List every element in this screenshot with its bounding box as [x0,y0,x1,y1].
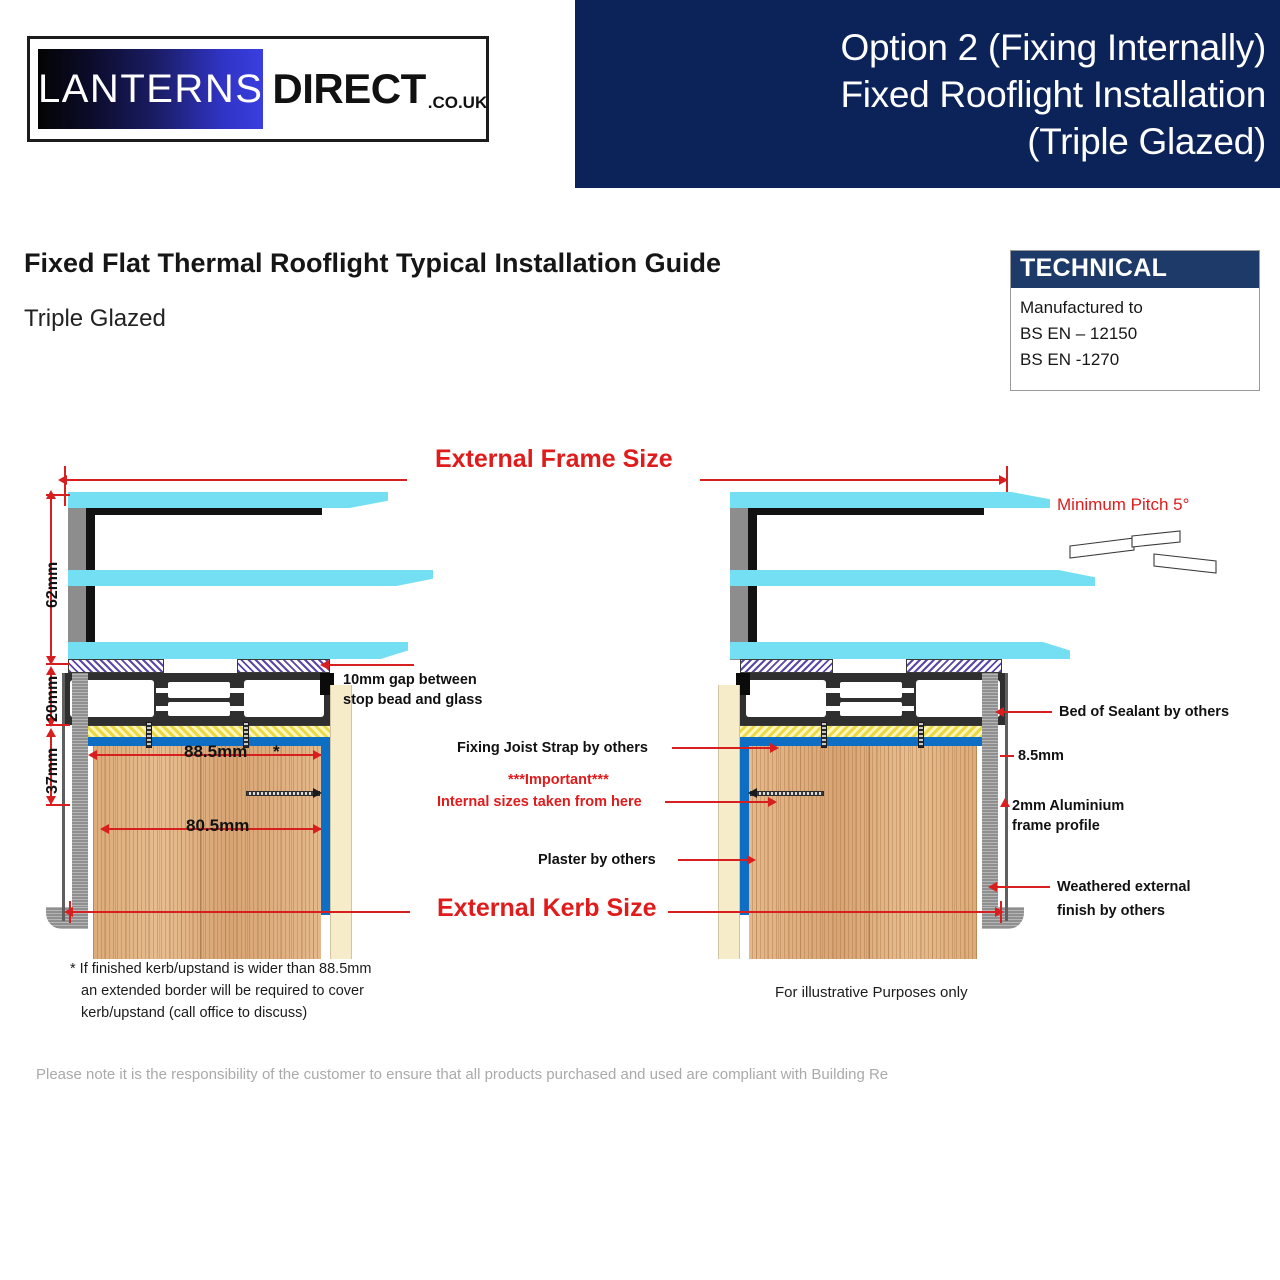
vdim-frame-tick-bottom [46,724,70,726]
vdim-glass-label: 62mm [44,562,62,608]
technical-box: TECHNICAL Manufactured to BS EN – 12150 … [1010,250,1260,391]
page-title: Fixed Flat Thermal Rooflight Typical Ins… [24,248,721,279]
stop-bead-left-inner [237,659,330,673]
glass-pane-middle-right [730,570,1095,586]
vdim-frame-arrow-top [46,666,56,675]
frame-chamber-mid-upper-left [168,682,230,698]
thermal-break-upper-right [901,688,914,693]
callout-8-5-tick [1000,755,1014,757]
timber-kerb-joint-left [200,746,201,959]
weathered-external-finish-left [72,673,88,921]
footnote-line-2: an extended border will be required to c… [70,980,371,1002]
minimum-pitch-icon [1062,528,1222,576]
callout-plaster: Plaster by others [538,850,656,870]
dim-80-label: 80.5mm [186,816,249,836]
dim-kerb-tick-right [1000,901,1002,923]
callout-plaster-arrow [747,855,756,865]
stop-bead-right-inner [740,659,833,673]
vdim-kerb-tick-bottom [46,804,70,806]
glazing-spacer-top-right [748,508,984,515]
kerb-width-footnote: * If finished kerb/upstand is wider than… [70,958,371,1024]
vdim-glass-tick-bottom [46,663,70,665]
logo-word-direct: DIRECT [272,65,425,113]
dim-external-kerb-size-label: External Kerb Size [437,894,657,923]
thermal-break-lower-inner-left [229,706,245,711]
thermal-break-lower-left [156,706,169,711]
dim-88-asterisk: * [273,742,280,762]
callout-weathered-line-1: Weathered external [1057,877,1191,897]
glass-pane-inner-left [68,642,408,659]
dim-88-label: 88.5mm [184,742,247,762]
thermal-break-upper-inner-left [229,688,245,693]
plaster-board-right [718,685,740,959]
technical-body: Manufactured to BS EN – 12150 BS EN -127… [1011,288,1259,373]
fixing-joist-strap-right [750,791,824,796]
dim-88-arrow-right [313,750,322,760]
callout-gap-arrow [320,660,329,670]
footnote-line-3: kerb/upstand (call office to discuss) [70,1002,371,1024]
stop-bead-left-outer [68,659,164,673]
callout-plaster-leader [678,859,750,861]
vdim-kerb-arrow-top [46,728,56,737]
thermal-break-lower-inner-right [825,706,841,711]
dim-kerb-line-left [70,911,410,913]
frame-chamber-inner-right [746,680,826,717]
callout-alu-profile-line-2: frame profile [1012,816,1100,836]
callout-stop-bead-gap-line-2: stop bead and glass [343,690,482,710]
callout-thickness-8-5: 8.5mm [1018,746,1064,766]
glazing-spacer-top-left [86,508,322,515]
glass-pane-outer-left [68,492,388,508]
fixing-screw-right-2 [821,722,827,748]
dim-80-arrow-right [313,824,322,834]
header-title-line-3: (Triple Glazed) [1027,118,1266,165]
callout-weathered-arrow [988,882,997,892]
frame-chamber-inner-left [244,680,324,717]
callout-gap-leader [326,664,414,666]
callout-alu-profile-line-1: 2mm Aluminium [1012,796,1124,816]
callout-weathered-line-2: finish by others [1057,901,1165,921]
stop-bead-right-outer [906,659,1002,673]
dim-kerb-line-right [668,911,998,913]
dpc-membrane-vertical-left [321,737,330,915]
glass-pane-outer-right [730,492,1050,508]
technical-line-3: BS EN -1270 [1020,347,1250,373]
installation-cross-section-diagram: External Frame Size [0,430,1280,1010]
timber-kerb-joint-right [869,746,870,959]
timber-kerb-right [749,746,977,959]
callout-joist-strap-leader [672,747,772,749]
thermal-break-upper-inner-right [825,688,841,693]
dim-external-frame-size-label: External Frame Size [435,445,673,474]
glass-pane-inner-right [730,642,1070,659]
technical-header: TECHNICAL [1011,251,1259,288]
minimum-pitch-label: Minimum Pitch 5° [1057,495,1189,515]
vdim-frame-label: 20mm [44,676,62,722]
callout-stop-bead-gap-line-1: 10mm gap between [343,670,477,690]
header-title-line-2: Fixed Rooflight Installation [840,71,1266,118]
callout-internal-sizes: Internal sizes taken from here [437,792,642,812]
dim-88-arrow-left [88,750,97,760]
callout-sealant-arrow [995,707,1004,717]
vdim-kerb-label: 37mm [44,748,62,794]
joist-strap-arrow-right [748,788,757,798]
frame-chamber-mid-lower-right [840,702,902,716]
thermal-break-lower-right [901,706,914,711]
callout-weathered-leader [994,886,1050,888]
callout-internal-sizes-leader [665,801,770,803]
technical-line-1: Manufactured to [1020,295,1250,321]
callout-sealant-leader [1000,711,1052,713]
fixing-screw-left-1 [146,722,152,748]
fixing-screw-right-1 [918,722,924,748]
thermal-break-upper-left [156,688,169,693]
header-banner: Option 2 (Fixing Internally) Fixed Roofl… [575,0,1280,188]
dim-kerb-tick-left [69,901,71,923]
glass-pane-middle-left [68,570,433,586]
technical-line-2: BS EN – 12150 [1020,321,1250,347]
render-edge-line-left [62,673,65,921]
fixing-joist-strap-left [246,791,320,796]
logo-tld: .CO.UK [428,93,488,113]
footnote-line-1: * If finished kerb/upstand is wider than… [70,958,371,980]
frame-chamber-mid-lower-left [168,702,230,716]
page-subtitle: Triple Glazed [24,305,166,333]
building-regs-disclaimer: Please note it is the responsibility of … [36,1066,888,1083]
callout-joist-strap-arrow [770,743,779,753]
header-title-line-1: Option 2 (Fixing Internally) [840,24,1266,71]
plaster-board-left [330,685,352,959]
brand-logo: LANTERNS DIRECT .CO.UK [27,36,489,142]
right-assembly [650,430,1070,970]
dpc-membrane-vertical-right [740,737,749,915]
timber-kerb-left [93,746,321,959]
vdim-glass-tick-top [46,494,70,496]
logo-word-lanterns: LANTERNS [38,67,263,112]
illustrative-purposes-note: For illustrative Purposes only [775,984,968,1001]
callout-alu-profile-arrow [1000,798,1010,807]
frame-chamber-mid-upper-right [840,682,902,698]
dim-80-arrow-left [100,824,109,834]
callout-internal-sizes-arrow [768,797,777,807]
callout-bed-of-sealant: Bed of Sealant by others [1059,702,1229,722]
callout-important: ***Important*** [508,770,609,790]
callout-fixing-joist-strap: Fixing Joist Strap by others [457,738,648,758]
logo-gradient-panel: LANTERNS [38,49,263,129]
joist-strap-arrow-left [313,788,322,798]
